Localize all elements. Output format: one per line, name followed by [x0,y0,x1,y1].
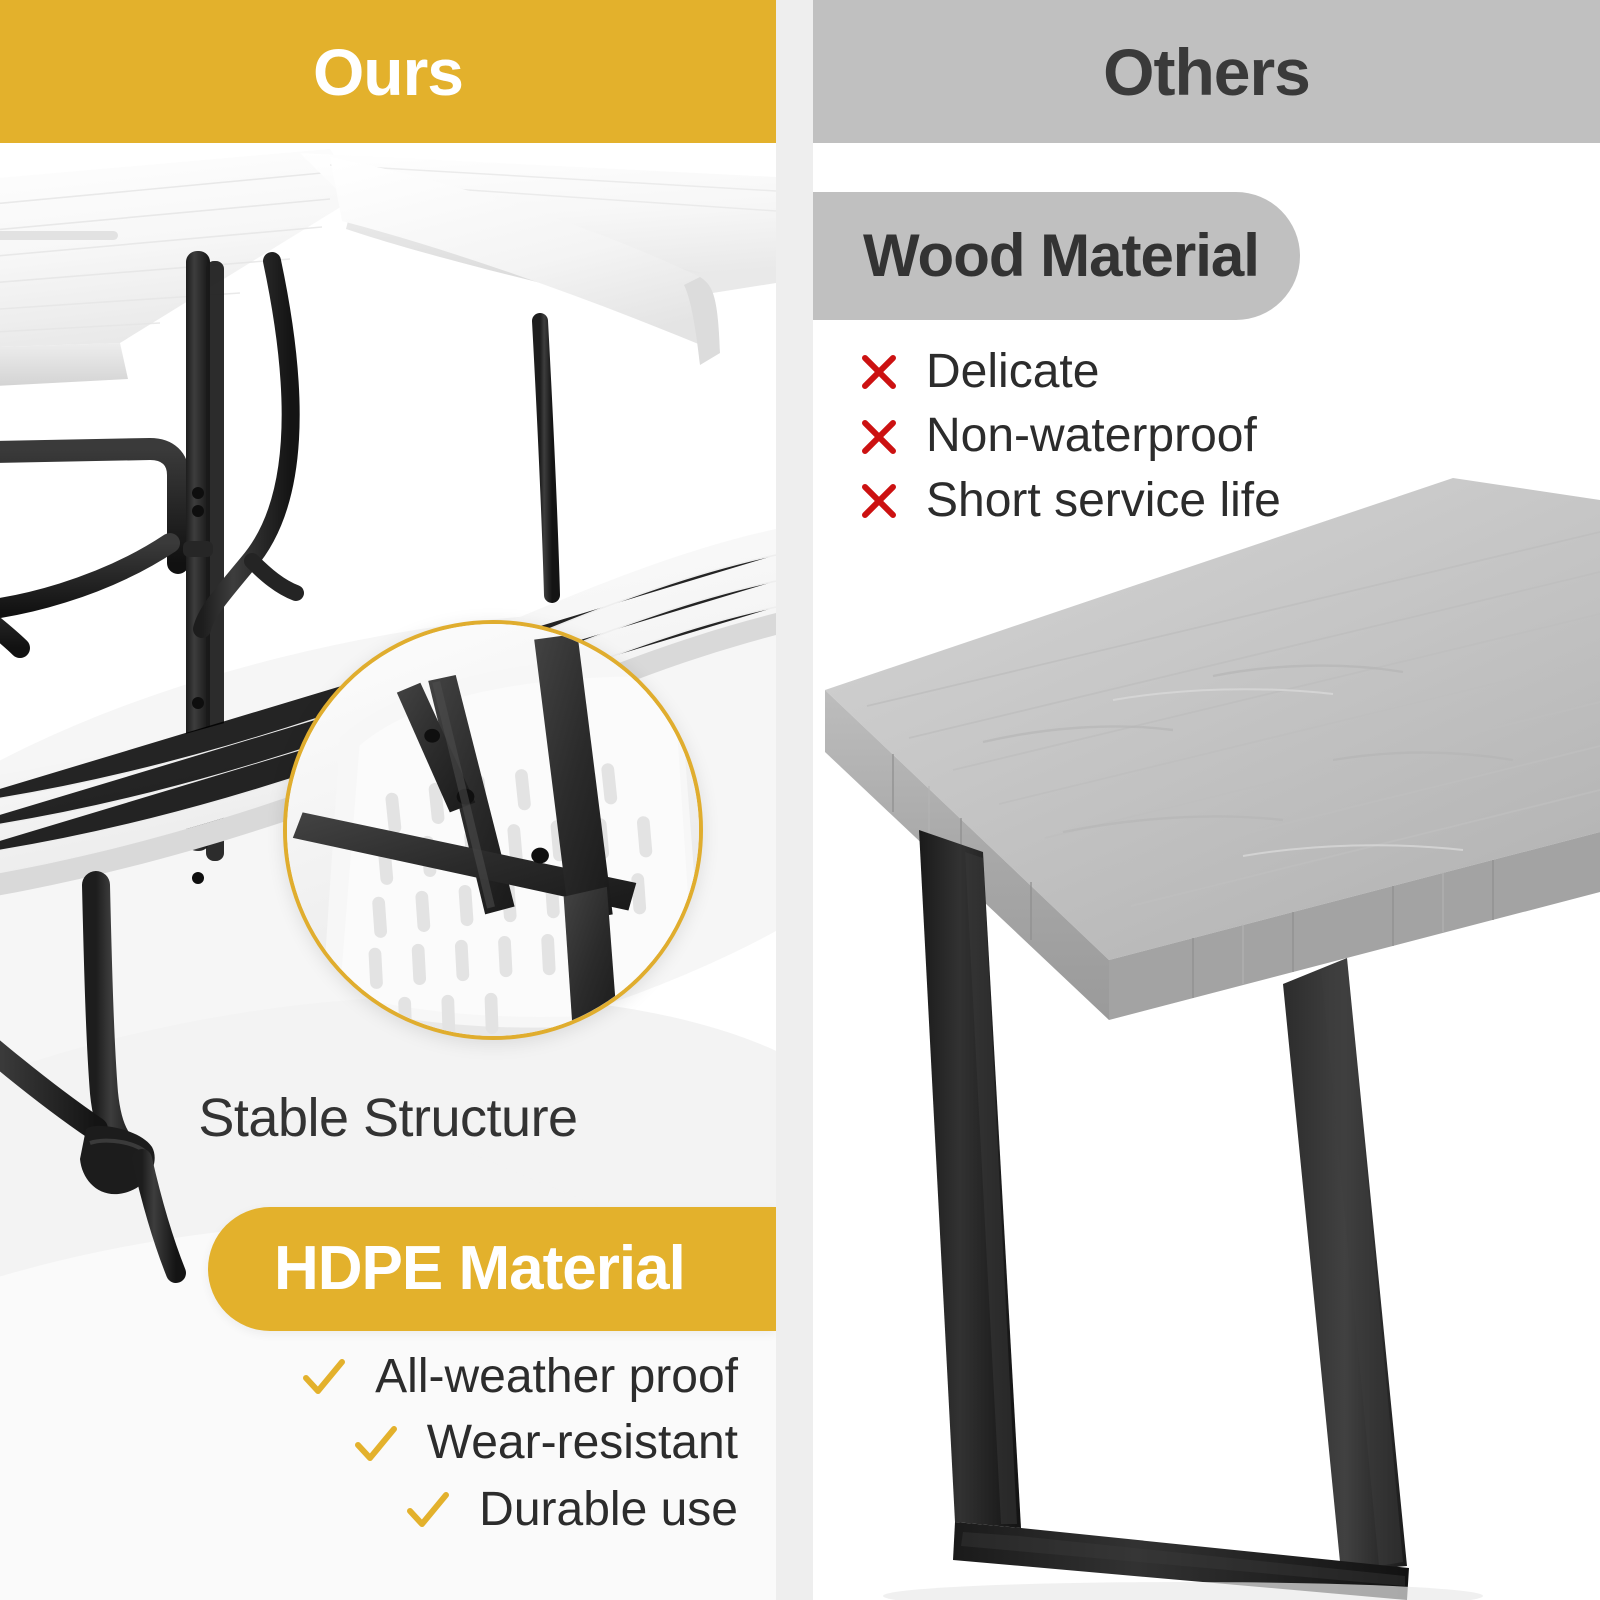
ours-header-title: Ours [313,39,463,105]
list-item-label: Durable use [479,1485,738,1535]
hdpe-material-badge: HDPE Material [208,1207,776,1331]
others-header-bar: Others [813,0,1600,143]
others-header-title: Others [1103,39,1310,105]
list-item: All-weather proof [301,1352,738,1402]
x-icon [858,416,900,458]
list-item-label: Delicate [926,347,1099,397]
list-item: Non-waterproof [858,411,1281,461]
check-icon [301,1354,347,1400]
list-item-label: Short service life [926,476,1281,526]
inset-detail-illustration [283,620,703,1040]
list-item: Durable use [405,1485,738,1535]
list-item-label: Non-waterproof [926,411,1257,461]
stable-structure-inset [283,620,703,1040]
check-icon [353,1421,399,1467]
x-icon [858,480,900,522]
pros-list: All-weather proof Wear-resistant Durable… [18,1352,738,1535]
cons-list: Delicate Non-waterproof Short service li… [858,347,1281,526]
comparison-infographic: Stable Structure HDPE Material All-weath… [0,0,1600,1600]
list-item-label: All-weather proof [375,1352,738,1402]
others-product-photo [813,460,1600,1600]
list-item: Wear-resistant [353,1418,738,1468]
wood-material-badge: Wood Material [813,192,1300,320]
panel-ours: Stable Structure HDPE Material All-weath… [0,0,776,1600]
list-item: Short service life [858,476,1281,526]
stable-structure-caption: Stable Structure [0,1087,776,1149]
list-item-label: Wear-resistant [427,1418,738,1468]
panel-others: Wood Material Delicate Non-waterproof [813,0,1600,1600]
list-item: Delicate [858,347,1281,397]
wood-material-badge-label: Wood Material [863,226,1259,286]
ours-header-bar: Ours [0,0,776,143]
check-icon [405,1487,451,1533]
hdpe-material-badge-label: HDPE Material [274,1238,685,1300]
x-icon [858,351,900,393]
panel-divider [776,0,813,1600]
